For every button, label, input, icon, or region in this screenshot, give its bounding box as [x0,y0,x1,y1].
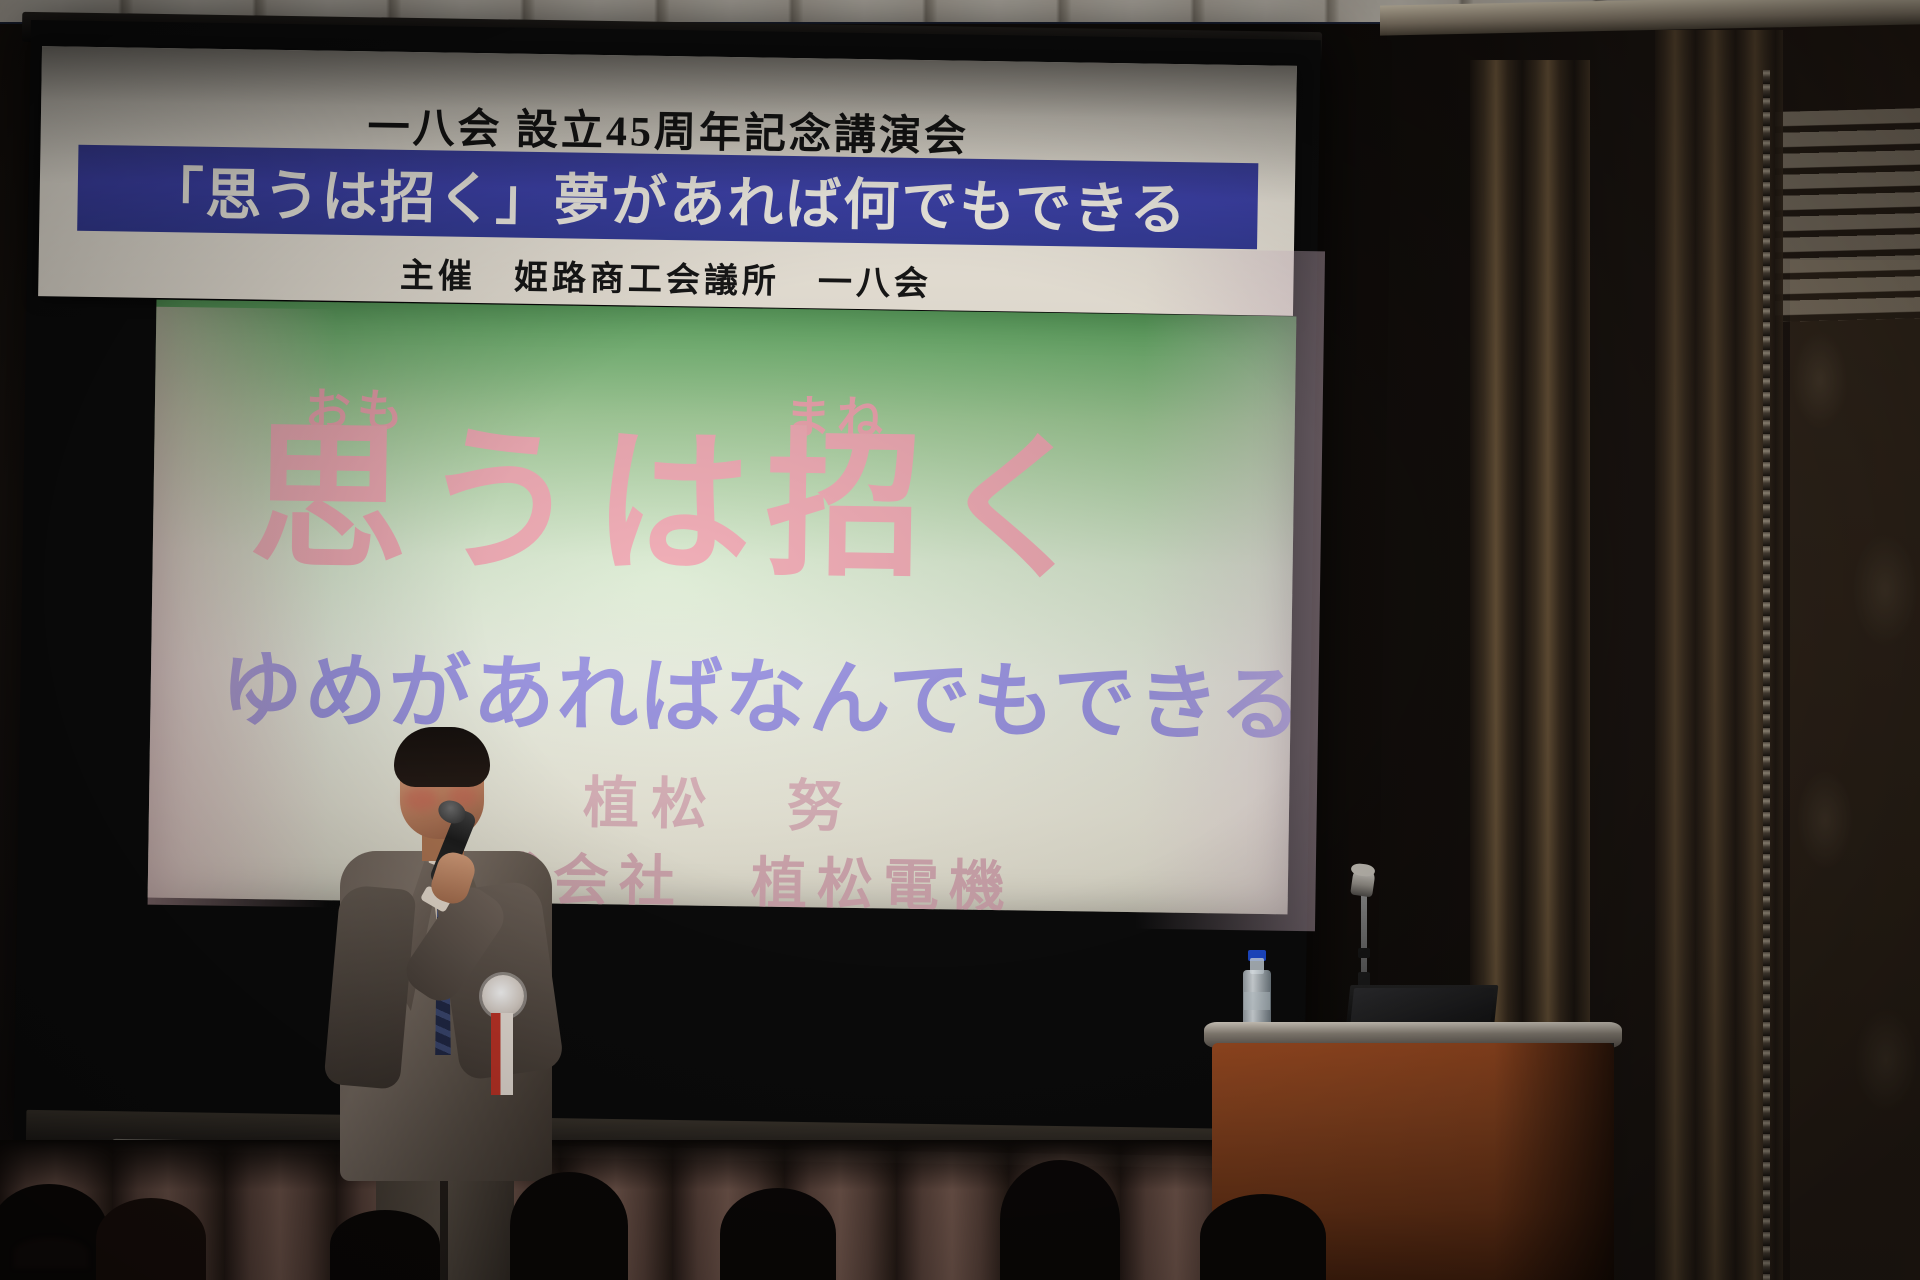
slide-vignette [148,300,1297,915]
list-item [1200,1194,1326,1280]
stage-scene: 一八会 設立45周年記念講演会 「思うは招く」夢があれば何でもできる 主催 姫路… [0,0,1920,1280]
bottle-label [1244,992,1270,1010]
curtain-rod-icon [1763,70,1770,1280]
list-item [330,1210,440,1280]
speaker-leg-seam [440,1173,448,1280]
patterned-wallpaper [1790,260,1920,1280]
speaker-cheek-left [404,787,438,811]
ribbon-icon [491,1013,513,1095]
banner-shadow-overlay [38,46,1297,316]
projected-slide: おも まね 思うは招く ゆめがあればなんでもできる 植松 努 株式会社 植松電機 [148,300,1297,915]
list-item [720,1188,836,1280]
list-item [510,1172,628,1280]
window-blind-icon [1775,108,1920,322]
speaker-hair [394,727,490,787]
rosette-icon [482,975,524,1017]
gooseneck-microphone-joint [1358,948,1370,958]
list-item [96,1198,206,1280]
list-item [1000,1160,1120,1280]
event-banner: 一八会 設立45周年記念講演会 「思うは招く」夢があれば何でもできる 主催 姫路… [38,46,1297,316]
audience-hair [14,1238,88,1268]
